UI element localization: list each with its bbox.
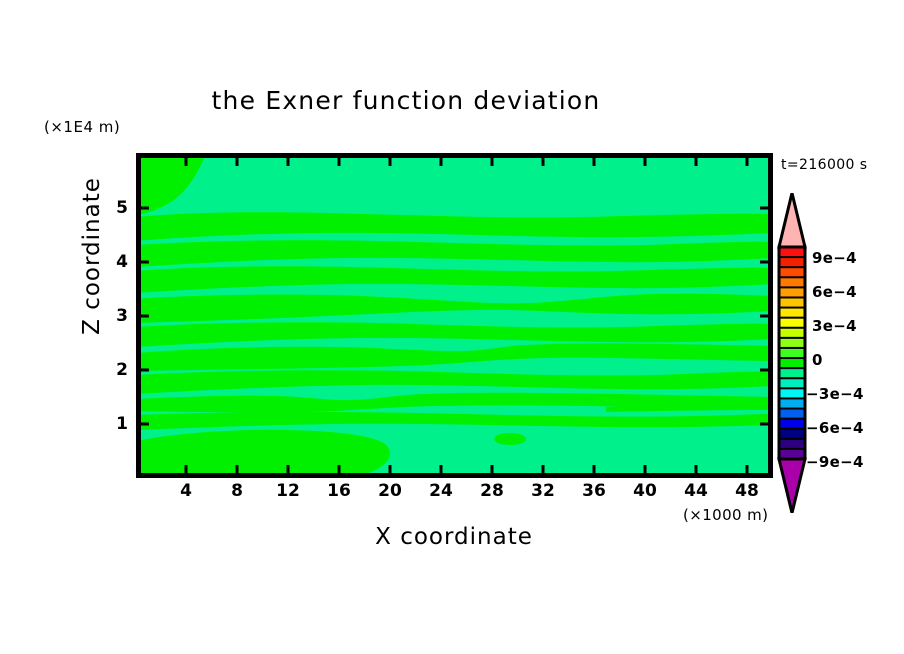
colorbar-band (779, 247, 805, 258)
x-tick-label: 20 (378, 481, 402, 501)
contour-bands (136, 153, 773, 478)
x-tick-label: 12 (276, 481, 300, 501)
figure-canvas: the Exner function deviation (×1E4 m) t=… (0, 0, 904, 654)
colorbar-band (779, 388, 805, 399)
y-tick-label: 4 (104, 252, 128, 272)
colorbar-band (779, 398, 805, 409)
x-axis-unit-label: (×1000 m) (683, 506, 768, 524)
colorbar-band (779, 287, 805, 298)
colorbar-band (779, 277, 805, 288)
colorbar-band (779, 338, 805, 349)
contour-plot-area (136, 153, 773, 478)
colorbar-band (779, 267, 805, 278)
colorbar-bands (779, 247, 805, 459)
colorbar-band (779, 378, 805, 389)
colorbar-band (779, 429, 805, 440)
page-title: the Exner function deviation (0, 86, 858, 115)
colorbar-band (779, 257, 805, 268)
x-tick-label: 24 (429, 481, 453, 501)
colorbar-band (779, 409, 805, 420)
x-tick-label: 36 (582, 481, 606, 501)
x-tick-label: 32 (531, 481, 555, 501)
colorbar-band (779, 358, 805, 369)
colorbar-band (779, 297, 805, 308)
colorbar-band (779, 348, 805, 359)
x-tick-label: 4 (180, 481, 192, 501)
y-tick-label: 3 (104, 306, 128, 326)
x-axis-title: X coordinate (136, 524, 772, 550)
x-tick-label: 40 (633, 481, 657, 501)
x-tick-label: 44 (684, 481, 708, 501)
colorbar-band (779, 419, 805, 430)
colorbar-tick-label: −6e−4 (806, 419, 864, 437)
colorbar-band (779, 318, 805, 329)
colorbar-tick-label: 3e−4 (812, 317, 857, 335)
colorbar-under-arrow (779, 459, 805, 513)
colorbar-over-arrow (779, 193, 805, 247)
colorbar-band (779, 439, 805, 450)
x-tick-label: 48 (735, 481, 759, 501)
time-annotation: t=216000 s (781, 157, 867, 173)
y-tick-label: 5 (104, 198, 128, 218)
x-tick-label: 28 (480, 481, 504, 501)
colorbar-band (779, 368, 805, 379)
x-tick-label: 8 (231, 481, 243, 501)
colorbar (776, 193, 810, 513)
colorbar-tick-label: −9e−4 (806, 453, 864, 471)
colorbar-tick-label: 0 (812, 351, 823, 369)
y-axis-title: Z coordinate (79, 156, 105, 356)
colorbar-tick-label: −3e−4 (806, 385, 864, 403)
y-tick-label: 2 (104, 360, 128, 380)
y-tick-label: 1 (104, 414, 128, 434)
colorbar-band (779, 308, 805, 319)
y-axis-unit-label: (×1E4 m) (44, 118, 120, 136)
x-tick-label: 16 (327, 481, 351, 501)
colorbar-tick-label: 9e−4 (812, 249, 857, 267)
colorbar-tick-label: 6e−4 (812, 283, 857, 301)
colorbar-band (779, 328, 805, 339)
